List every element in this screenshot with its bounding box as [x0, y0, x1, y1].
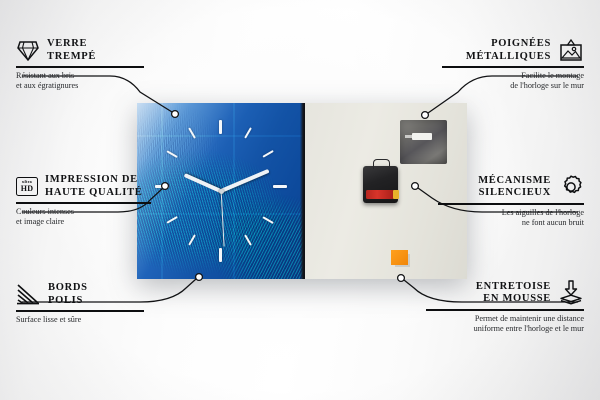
callout-hd-print: ultra HD IMPRESSION DE HAUTE QUALITÉ Cou…	[16, 174, 166, 228]
callout-description: Résistant aux bris et aux égratignures	[16, 71, 156, 92]
infographic-canvas: VERRE TREMPÉ Résistant aux bris et aux é…	[0, 0, 600, 400]
callout-silent-mechanism: MÉCANISME SILENCIEUX Les aiguilles de l'…	[424, 174, 584, 229]
callout-rule	[16, 66, 144, 68]
metal-hanger-plate	[400, 120, 447, 164]
callout-title: POIGNÉES MÉTALLIQUES	[466, 38, 551, 63]
callout-title: ENTRETOISE EN MOUSSE	[476, 281, 551, 306]
callout-title: VERRE TREMPÉ	[47, 38, 96, 63]
ultra-hd-icon-bottom-text: HD	[21, 185, 33, 193]
callout-rule	[426, 309, 584, 311]
battery	[366, 190, 394, 199]
arrow-onto-layers-icon	[558, 280, 584, 306]
callout-rule	[16, 310, 144, 312]
clock-tick	[219, 120, 222, 134]
callout-foam-spacer: ENTRETOISE EN MOUSSE Permet de maintenir…	[412, 280, 584, 335]
callout-description: Couleurs intenses et image claire	[16, 207, 166, 228]
callout-description: Permet de maintenir une distance uniform…	[412, 314, 584, 335]
callout-tempered-glass: VERRE TREMPÉ Résistant aux bris et aux é…	[16, 38, 156, 92]
callout-title: MÉCANISME SILENCIEUX	[478, 175, 551, 200]
callout-rule	[16, 202, 151, 204]
battery-terminal	[393, 190, 399, 199]
movement-hanger-wire	[373, 159, 390, 169]
product-image	[137, 103, 467, 279]
clock-tick	[219, 248, 222, 262]
clock-movement-module	[363, 166, 398, 203]
callout-description: Surface lisse et sûre	[16, 315, 156, 326]
callout-description: Les aiguilles de l'horloge ne font aucun…	[424, 208, 584, 229]
diamond-icon	[16, 40, 40, 62]
gear-icon	[558, 174, 584, 200]
polished-edge-icon	[16, 284, 41, 305]
callout-rule	[438, 203, 584, 205]
callout-rule	[442, 66, 584, 68]
hanger-slot	[412, 133, 432, 140]
foam-spacer-pad	[391, 250, 408, 265]
ultra-hd-icon: ultra HD	[16, 177, 38, 196]
picture-hanger-icon	[558, 39, 584, 63]
callout-title: IMPRESSION DE HAUTE QUALITÉ	[45, 174, 143, 199]
callout-title: BORDS POLIS	[48, 282, 88, 307]
callout-polished-edges: BORDS POLIS Surface lisse et sûre	[16, 282, 156, 325]
clock-center-pin	[219, 189, 224, 194]
callout-description: Facilite le montage de l'horloge sur le …	[428, 71, 584, 92]
clock-tick	[273, 185, 287, 188]
callout-metal-handles: POIGNÉES MÉTALLIQUES Facilite le montage…	[428, 38, 584, 92]
